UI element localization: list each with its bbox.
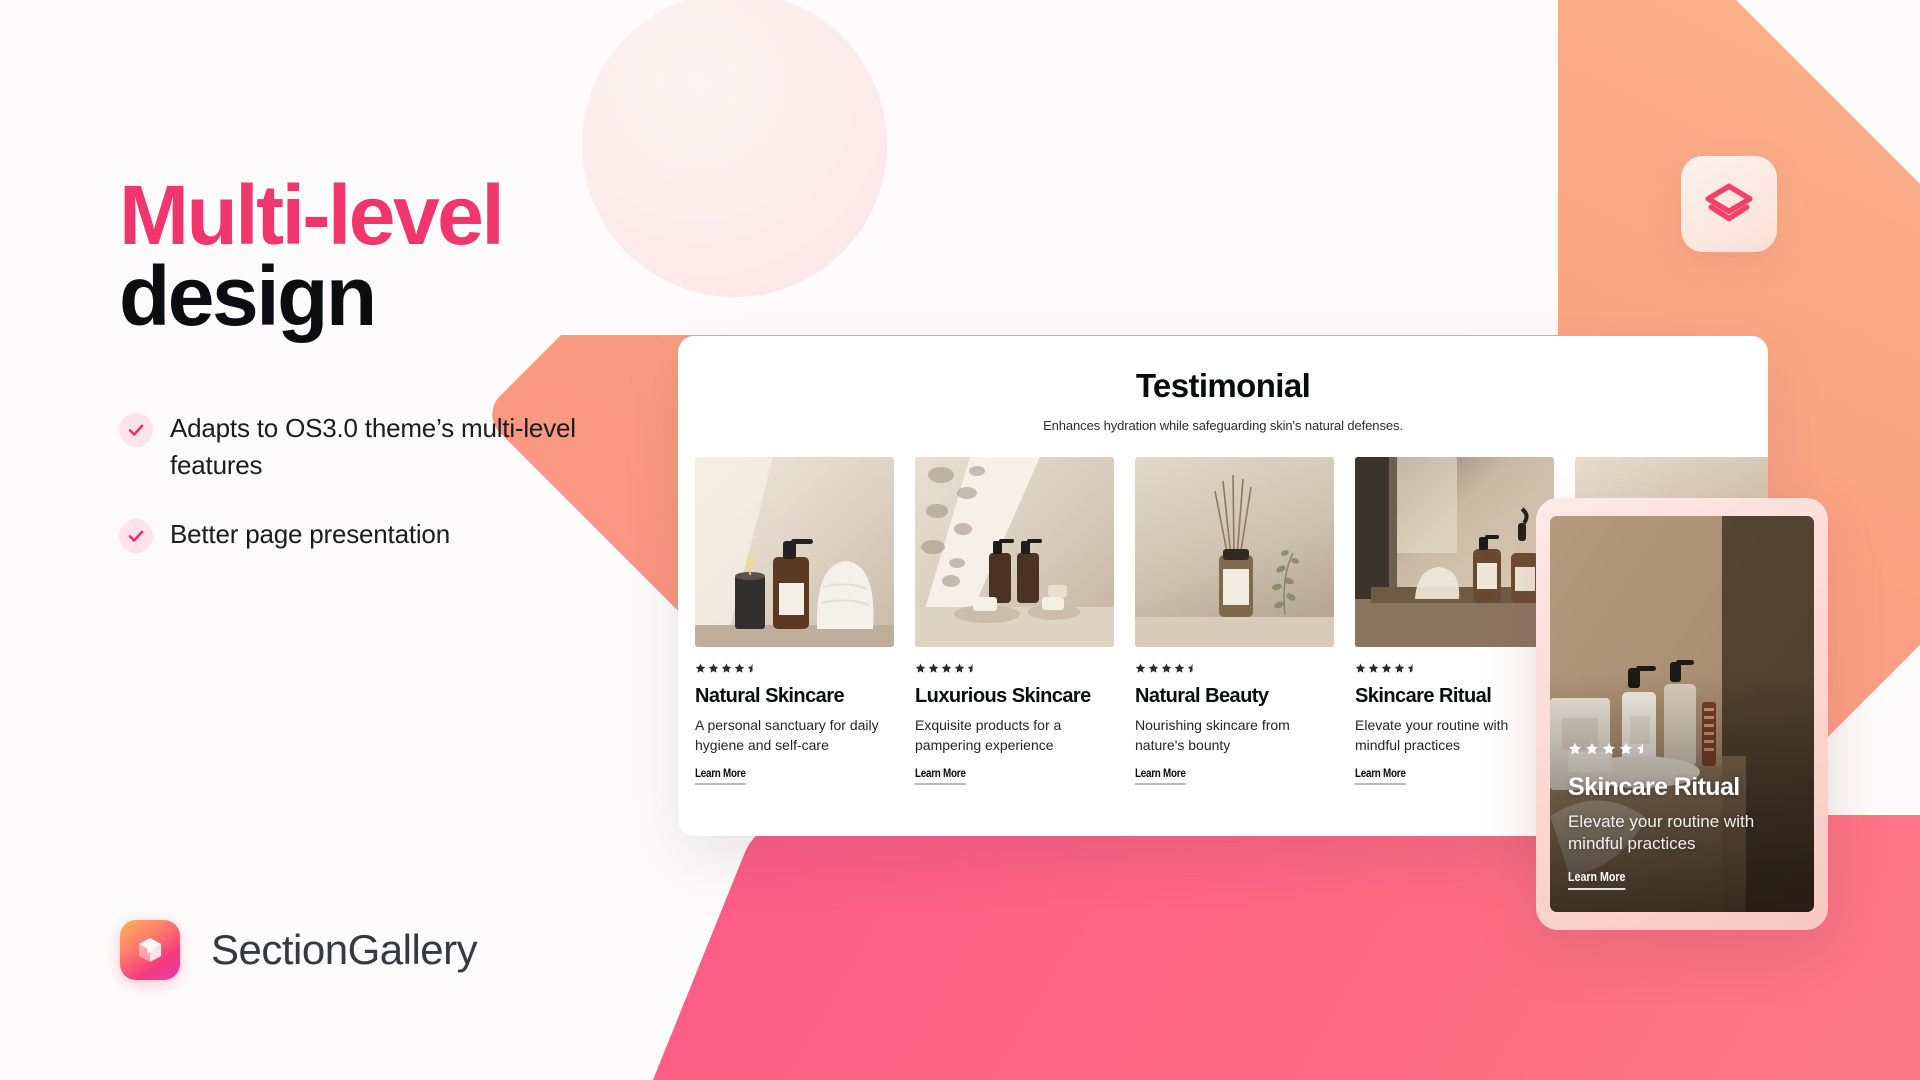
learn-more-link[interactable]: Learn More xyxy=(1568,869,1625,890)
page-title: Multi-level design xyxy=(119,175,739,338)
product-card[interactable]: Natural Beauty Nourishing skincare from … xyxy=(1135,457,1334,785)
cube-icon xyxy=(120,920,180,980)
learn-more-link[interactable]: Learn More xyxy=(1135,766,1186,785)
learn-more-link[interactable]: Learn More xyxy=(1355,766,1406,785)
rating-stars xyxy=(1135,663,1334,674)
product-description: A personal sanctuary for daily hygiene a… xyxy=(695,716,894,756)
product-card[interactable]: Luxurious Skincare Exquisite products fo… xyxy=(915,457,1114,785)
product-title: Skincare Ritual xyxy=(1355,685,1554,708)
product-title: Luxurious Skincare xyxy=(915,685,1114,708)
panel-title: Testimonial xyxy=(678,367,1768,405)
product-title: Natural Skincare xyxy=(695,685,894,708)
feature-item-label: Adapts to OS3.0 theme’s multi-level feat… xyxy=(170,410,660,484)
layers-icon xyxy=(1704,179,1754,229)
brand-lockup[interactable]: SectionGallery xyxy=(120,920,477,980)
layers-badge[interactable] xyxy=(1681,156,1777,252)
device-overlay-card[interactable]: Skincare Ritual Elevate your routine wit… xyxy=(1536,498,1828,930)
product-title: Natural Beauty xyxy=(1135,685,1334,708)
hero-column: Multi-level design Adapts to OS3.0 theme… xyxy=(119,175,739,585)
product-image xyxy=(1355,457,1554,647)
rating-stars xyxy=(1568,742,1796,756)
check-icon xyxy=(119,413,153,447)
feature-item: Better page presentation xyxy=(119,516,739,553)
feature-list: Adapts to OS3.0 theme’s multi-level feat… xyxy=(119,410,739,553)
brand-name: SectionGallery xyxy=(211,926,477,974)
product-description: Exquisite products for a pampering exper… xyxy=(915,716,1114,756)
device-overlay-title: Skincare Ritual xyxy=(1568,773,1796,802)
rating-stars xyxy=(915,663,1114,674)
rating-stars xyxy=(695,663,894,674)
check-icon xyxy=(119,519,153,553)
product-description: Nourishing skincare from nature's bounty xyxy=(1135,716,1334,756)
rating-stars xyxy=(1355,663,1554,674)
learn-more-link[interactable]: Learn More xyxy=(695,766,746,785)
headline-accent-line: Multi-level xyxy=(119,175,739,256)
product-image xyxy=(1135,457,1334,647)
feature-item: Adapts to OS3.0 theme’s multi-level feat… xyxy=(119,410,739,484)
device-overlay-content: Skincare Ritual Elevate your routine wit… xyxy=(1550,742,1814,890)
panel-subtitle: Enhances hydration while safeguarding sk… xyxy=(678,418,1768,433)
product-description: Elevate your routine with mindful practi… xyxy=(1355,716,1554,756)
feature-item-label: Better page presentation xyxy=(170,516,450,553)
learn-more-link[interactable]: Learn More xyxy=(915,766,966,785)
device-overlay-description: Elevate your routine with mindful practi… xyxy=(1568,811,1796,856)
product-card[interactable]: Skincare Ritual Elevate your routine wit… xyxy=(1355,457,1554,785)
panel-header: Testimonial Enhances hydration while saf… xyxy=(678,336,1768,433)
device-screen: Skincare Ritual Elevate your routine wit… xyxy=(1550,516,1814,912)
headline-plain-line: design xyxy=(119,256,739,337)
product-image xyxy=(915,457,1114,647)
